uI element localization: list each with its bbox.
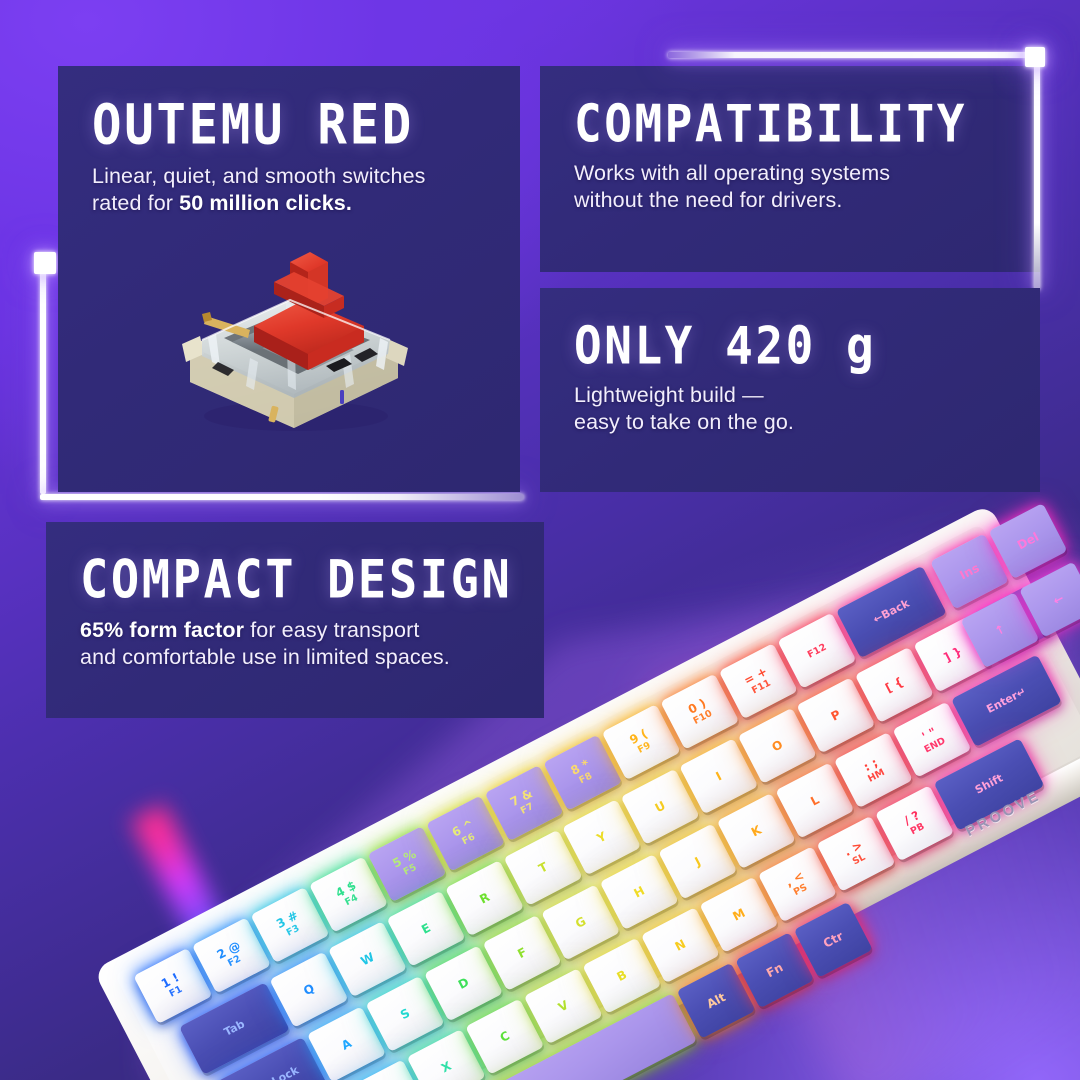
- key-legend-primary: / ?: [902, 809, 922, 827]
- key-y[interactable]: Y: [562, 799, 641, 875]
- card-title-compatibility: COMPATIBILITY: [574, 100, 1006, 149]
- body-line-1: Linear, quiet, and smooth switches: [92, 164, 426, 188]
- key-legend-primary: R: [477, 891, 491, 906]
- key-legend-secondary: F9: [637, 741, 653, 756]
- key-legend-primary: 3 #: [274, 909, 300, 931]
- key-legend-primary: P: [829, 708, 843, 723]
- key-alt[interactable]: Alt: [677, 963, 756, 1039]
- key-legend-primary: A: [340, 1037, 354, 1052]
- key-w[interactable]: W: [328, 921, 407, 997]
- key-legend-primary: V: [556, 998, 570, 1013]
- key-legend-primary: Y: [595, 830, 609, 845]
- key-space[interactable]: [ {: [855, 647, 934, 723]
- key-legend-secondary: F1: [168, 985, 184, 1000]
- card-compatibility: COMPATIBILITY Works with all operating s…: [540, 66, 1040, 272]
- key-d[interactable]: D: [424, 945, 503, 1021]
- key-l[interactable]: L: [775, 763, 854, 839]
- key-del[interactable]: Del: [988, 503, 1067, 579]
- body-line-1-bold: 65% form factor: [80, 618, 244, 642]
- key-m[interactable]: M: [699, 877, 778, 953]
- card-body-compact-design: 65% form factor for easy transport and c…: [80, 617, 510, 672]
- key-n[interactable]: N: [640, 907, 719, 983]
- key-legend-primary: K: [749, 823, 763, 838]
- key-p[interactable]: P: [796, 677, 875, 753]
- card-compact-design: COMPACT DESIGN 65% form factor for easy …: [46, 522, 544, 718]
- key-q[interactable]: Q: [269, 952, 348, 1028]
- key-space[interactable]: = +F11: [719, 643, 798, 719]
- key-legend-primary: G: [573, 915, 588, 931]
- key-legend-primary: Q: [301, 982, 316, 998]
- key-legend-primary: Enter↵: [985, 686, 1028, 716]
- key-space[interactable]: ] }: [913, 616, 992, 692]
- key-space[interactable]: ' "END: [892, 702, 971, 778]
- key-space[interactable]: ←: [1019, 562, 1080, 638]
- key-legend-primary: T: [536, 860, 549, 875]
- card-title-compact-design: COMPACT DESIGN: [80, 556, 510, 606]
- key-0[interactable]: 0 )F10: [660, 674, 739, 750]
- key-g[interactable]: G: [541, 884, 620, 960]
- key-legend-primary: I: [714, 770, 724, 783]
- body-line-1: Lightweight build —: [574, 383, 764, 407]
- key-shift[interactable]: Shift: [933, 738, 1044, 831]
- key-legend-secondary: PB: [909, 822, 926, 837]
- key-legend-primary: D: [456, 976, 471, 992]
- key-legend-primary: S: [398, 1006, 411, 1021]
- key-k[interactable]: K: [717, 793, 796, 869]
- key-legend-primary: Shift: [973, 773, 1005, 797]
- body-line-2: and comfortable use in limited spaces.: [80, 645, 450, 669]
- key-legend-primary: W: [359, 951, 377, 968]
- key-6[interactable]: 6 ^F6: [426, 796, 505, 872]
- key-space[interactable]: / ?PB: [875, 785, 954, 861]
- outemu-red-switch-image: [158, 238, 428, 438]
- key-legend-primary: [ {: [883, 675, 905, 695]
- key-legend-primary: ] }: [942, 645, 964, 665]
- card-body-outemu-red: Linear, quiet, and smooth switches rated…: [92, 163, 486, 218]
- key-space[interactable]: ↑: [960, 592, 1039, 668]
- key-legend-primary: 6 ^: [450, 817, 476, 839]
- card-body-compatibility: Works with all operating systems without…: [574, 160, 1006, 215]
- key-legend-secondary: SL: [851, 853, 867, 868]
- key-legend-primary: , <: [783, 869, 805, 889]
- key-5[interactable]: 5 %F5: [368, 826, 447, 902]
- key-legend-primary: J: [693, 855, 703, 868]
- key-f12[interactable]: F12: [777, 613, 856, 689]
- key-c[interactable]: C: [465, 999, 544, 1075]
- key-legend-primary: 7 &: [508, 787, 534, 809]
- key-legend-primary: 1 !: [159, 971, 181, 990]
- key-legend-primary: 8 *: [569, 757, 592, 777]
- key-e[interactable]: E: [386, 891, 465, 967]
- key-legend-primary: 9 (: [628, 727, 650, 746]
- key-fn[interactable]: Fn: [735, 932, 814, 1008]
- key-1[interactable]: 1 !F1: [133, 948, 212, 1024]
- key-capslock[interactable]: CapsLock: [216, 1037, 327, 1080]
- key-legend-primary: X: [439, 1059, 453, 1074]
- key-space[interactable]: . >SL: [816, 816, 895, 892]
- body-line-1-rest: for easy transport: [244, 618, 419, 642]
- key-legend-primary: Fn: [765, 961, 786, 980]
- key-o[interactable]: O: [738, 708, 817, 784]
- key-legend-primary: \ |: [1003, 615, 1020, 632]
- key-b[interactable]: B: [582, 938, 661, 1014]
- key-f[interactable]: F: [483, 915, 562, 991]
- key-legend-primary: . >: [842, 839, 864, 859]
- key-legend-secondary: F12: [806, 643, 828, 661]
- key-space[interactable]: , <PS: [758, 846, 837, 922]
- key-legend-secondary: F11: [751, 679, 773, 697]
- key-legend-primary: = +: [742, 665, 769, 687]
- key-ctr[interactable]: Ctr: [794, 902, 873, 978]
- key-legend-primary: L: [809, 793, 822, 808]
- key-i[interactable]: I: [679, 738, 758, 814]
- body-line-2: without the need for drivers.: [574, 188, 842, 212]
- key-space[interactable]: : ;HM: [834, 732, 913, 808]
- key-legend-primary: M: [730, 906, 746, 923]
- key-legend-primary: ←: [1051, 592, 1066, 608]
- key-legend-primary: F: [516, 945, 529, 960]
- brand-logo: PROOVE: [963, 787, 1044, 840]
- key-legend-secondary: F4: [344, 894, 360, 909]
- key-v[interactable]: V: [523, 968, 602, 1044]
- key-legend-primary: C: [498, 1029, 512, 1044]
- key-legend-primary: O: [770, 738, 785, 754]
- key-ins[interactable]: Ins: [930, 533, 1009, 609]
- body-line-2-bold: 50 million clicks.: [179, 191, 352, 215]
- key-legend-primary: ←Back: [872, 598, 912, 626]
- key-j[interactable]: J: [658, 823, 737, 899]
- key-h[interactable]: H: [600, 854, 679, 930]
- key-legend-primary: E: [419, 921, 432, 936]
- key-legend-primary: 4 $: [334, 879, 358, 900]
- key-legend-secondary: HM: [867, 768, 887, 785]
- body-line-2-prefix: rated for: [92, 191, 179, 215]
- key-legend-secondary: F5: [402, 863, 418, 878]
- card-title-weight: ONLY 420 g: [574, 322, 1006, 371]
- body-line-2: easy to take on the go.: [574, 410, 794, 434]
- key-legend-primary: 0 ): [686, 697, 708, 716]
- key-space[interactable]: [431, 993, 697, 1080]
- key-legend-primary: Tab: [222, 1018, 246, 1038]
- key-legend-primary: ↑: [992, 622, 1007, 638]
- key-2[interactable]: 2 @F2: [192, 917, 271, 993]
- key-legend-secondary: END: [923, 737, 947, 756]
- key-legend-secondary: F2: [227, 955, 243, 970]
- key-3[interactable]: 3 #F3: [250, 887, 329, 963]
- key-legend-primary: CapsLock: [243, 1065, 300, 1080]
- rgb-light-bleed: [640, 409, 1080, 1080]
- key-7[interactable]: 7 &F7: [485, 765, 564, 841]
- key-legend-primary: Ctr: [821, 929, 845, 950]
- key-legend-secondary: F7: [519, 802, 535, 817]
- card-weight: ONLY 420 g Lightweight build — easy to t…: [540, 288, 1040, 492]
- key-legend-primary: : ;: [862, 756, 880, 774]
- key-legend-secondary: F8: [578, 772, 594, 787]
- body-line-1: Works with all operating systems: [574, 161, 890, 185]
- card-body-weight: Lightweight build — easy to take on the …: [574, 382, 1006, 437]
- key-legend-primary: U: [653, 799, 667, 815]
- key-space[interactable]: \ |: [972, 586, 1051, 662]
- key-legend-primary: Ins: [957, 561, 981, 581]
- key-s[interactable]: S: [366, 976, 445, 1052]
- promo-graphic: 1 !F12 @F23 #F34 $F45 %F56 ^F67 &F78 *F8…: [0, 0, 1080, 1080]
- key-legend-primary: 2 @: [215, 939, 243, 961]
- key-legend-primary: 5 %: [391, 847, 419, 870]
- key-legend-secondary: PS: [792, 883, 809, 898]
- key-tab[interactable]: Tab: [179, 982, 290, 1075]
- key-legend-primary: H: [632, 884, 647, 900]
- key-r[interactable]: R: [445, 860, 524, 936]
- key-legend-secondary: F6: [461, 833, 477, 848]
- key-x[interactable]: X: [406, 1029, 485, 1080]
- key-legend-secondary: F3: [285, 924, 301, 939]
- key-a[interactable]: A: [307, 1006, 386, 1080]
- key-legend-primary: ' ": [920, 725, 938, 743]
- key-9[interactable]: 9 (F9: [602, 704, 681, 780]
- key-t[interactable]: T: [503, 830, 582, 906]
- key-legend-secondary: F10: [692, 709, 714, 727]
- key-back[interactable]: ←Back: [836, 565, 947, 658]
- key-4[interactable]: 4 $F4: [309, 857, 388, 933]
- key-u[interactable]: U: [621, 769, 700, 845]
- key-legend-primary: Alt: [705, 991, 728, 1011]
- key-z[interactable]: Z: [348, 1060, 427, 1080]
- key-enter[interactable]: Enter↵: [951, 654, 1062, 747]
- key-legend-primary: Del: [1015, 530, 1041, 551]
- key-legend-primary: B: [614, 968, 628, 983]
- rgb-side-strip: [130, 803, 300, 1080]
- card-title-outemu-red: OUTEMU RED: [92, 100, 486, 152]
- key-8[interactable]: 8 *F8: [543, 735, 622, 811]
- key-legend-primary: N: [673, 937, 688, 953]
